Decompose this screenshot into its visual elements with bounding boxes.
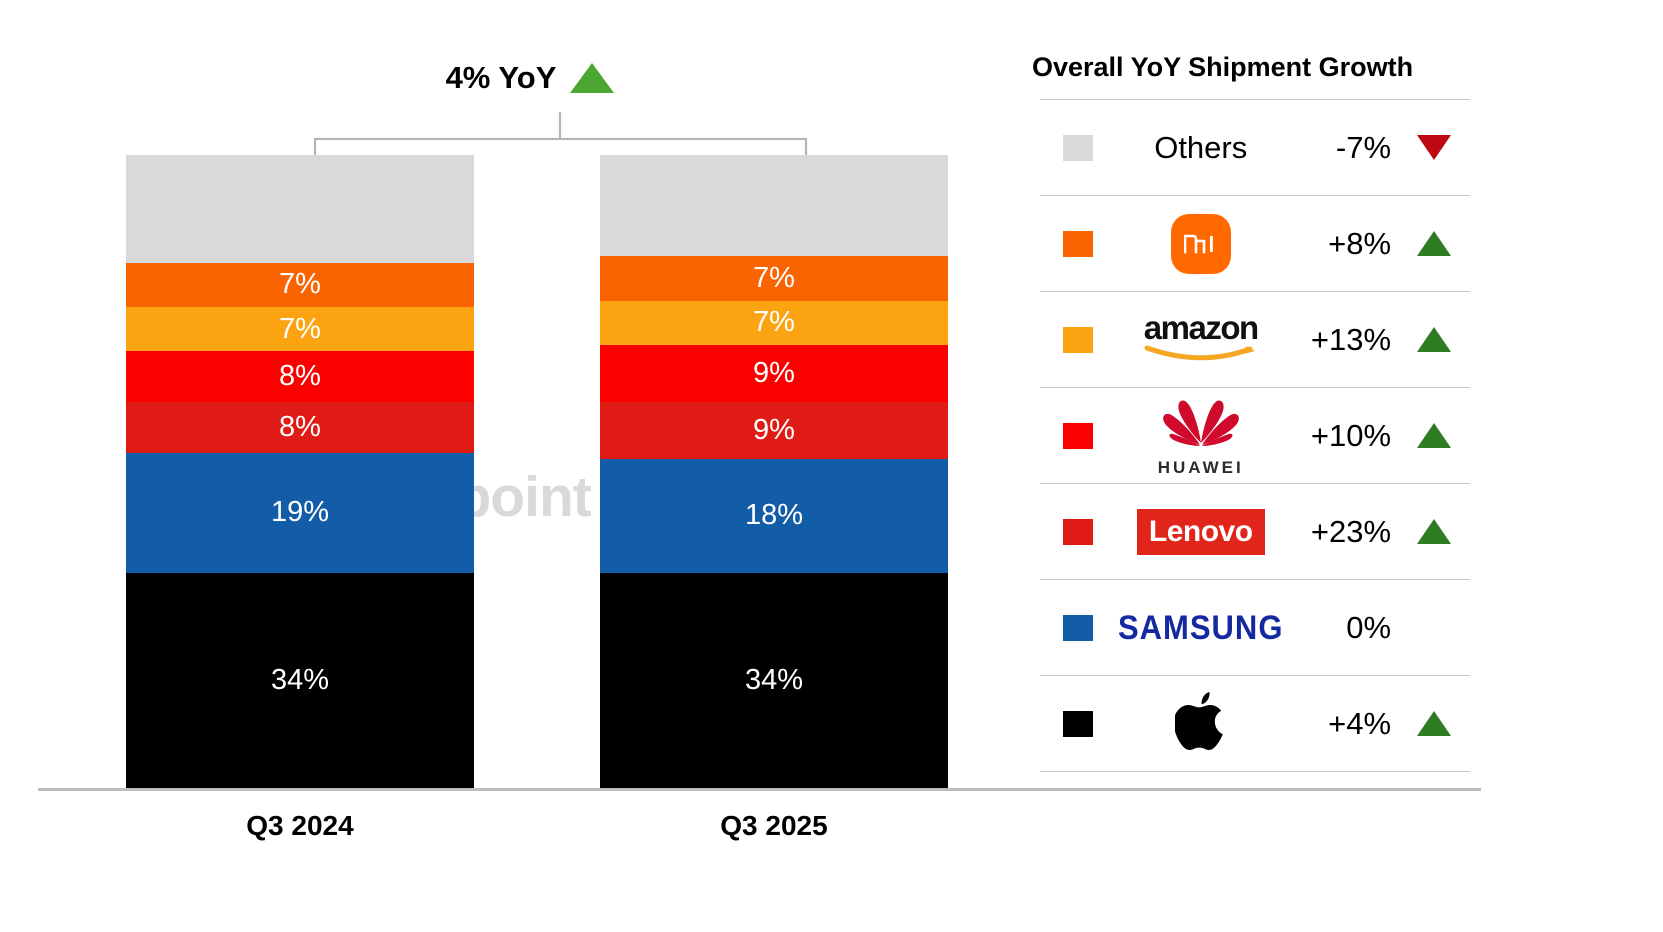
bar-segment-xiaomi: 7% [600,256,948,300]
legend-color-swatch [1063,231,1093,257]
legend-trend-arrow-cell [1397,327,1470,352]
bar-segment-apple: 34% [600,573,948,788]
bar-segment-samsung: 19% [126,453,474,573]
lenovo-logo-icon: Lenovo [1117,484,1285,580]
bar-segment-label: 9% [753,357,795,390]
legend-color-swatch [1063,423,1093,449]
bar-q3-2024: 7%7%8%8%19%34% [126,155,474,788]
legend-row-amazon[interactable]: amazon+13% [1040,292,1470,388]
legend-swatch-cell [1040,711,1117,737]
legend-table: Others-7%+8%amazon+13%HUAWEI+10%Lenovo+2… [1040,99,1470,772]
huawei-text: HUAWEI [1158,458,1244,478]
xiaomi-mi-glyph [1184,233,1218,255]
lenovo-wordmark: Lenovo [1137,509,1265,555]
triangle-up-icon [1417,423,1451,448]
bar-segment-lenovo: 9% [600,402,948,459]
triangle-up-icon [1417,519,1451,544]
stacked-bar-chart: 4% YoY 7%7%8%8%19%34% 7%7%9%9%18%34% Q3 … [0,0,1010,932]
legend-swatch-cell [1040,519,1117,545]
huawei-wordmark: HUAWEI [1156,393,1246,478]
bar-segment-others [600,155,948,256]
legend-trend-arrow-cell [1397,135,1470,160]
bar-segment-others [126,155,474,263]
legend-color-swatch [1063,519,1093,545]
bar-segment-huawei: 9% [600,345,948,402]
legend-color-swatch [1063,135,1093,161]
legend-growth-value: +13% [1285,322,1398,358]
legend-growth-value: 0% [1285,610,1398,646]
huawei-flower-icon [1156,393,1246,456]
legend-swatch-cell [1040,135,1117,161]
bar-segment-label: 7% [279,268,321,301]
amazon-wordmark: amazon [1142,311,1260,368]
apple-logo-icon [1117,676,1285,772]
amazon-smile-icon [1142,345,1260,368]
triangle-up-icon [1417,231,1451,256]
bar-segment-amazon: 7% [126,307,474,351]
axis-baseline [38,788,1481,791]
bar-q3-2025: 7%7%9%9%18%34% [600,155,948,788]
amazon-text: amazon [1144,311,1258,344]
legend-swatch-cell [1040,615,1117,641]
legend-row-huawei[interactable]: HUAWEI+10% [1040,388,1470,484]
bar-segment-label: 8% [279,360,321,393]
apple-mark [1175,690,1227,757]
legend-title: Overall YoY Shipment Growth [1032,52,1640,83]
bar-segment-label: 7% [279,313,321,346]
triangle-down-icon [1417,135,1451,160]
bar-segment-label: 34% [271,664,329,697]
legend-row-others[interactable]: Others-7% [1040,100,1470,196]
triangle-up-icon [1417,711,1451,736]
bar-segment-huawei: 8% [126,351,474,402]
samsung-text: SAMSUNG [1118,607,1283,647]
others-label: Others [1117,100,1285,196]
legend-trend-arrow-cell [1397,423,1470,448]
legend-trend-arrow-cell [1397,519,1470,544]
legend-trend-arrow-cell [1397,711,1470,736]
lenovo-text: Lenovo [1149,515,1253,549]
bar-segment-apple: 34% [126,573,474,788]
legend-color-swatch [1063,711,1093,737]
legend-row-lenovo[interactable]: Lenovo+23% [1040,484,1470,580]
legend-row-samsung[interactable]: SAMSUNG0% [1040,580,1470,676]
legend-color-swatch [1063,615,1093,641]
bar-segment-label: 19% [271,496,329,529]
category-label-0: Q3 2024 [126,810,474,842]
legend-swatch-cell [1040,231,1117,257]
legend-growth-value: +23% [1285,514,1398,550]
bar-segment-label: 7% [753,262,795,295]
bar-segment-label: 7% [753,306,795,339]
bar-segment-amazon: 7% [600,301,948,345]
legend-row-apple[interactable]: +4% [1040,676,1470,772]
legend-growth-value: -7% [1285,130,1398,166]
bar-segment-xiaomi: 7% [126,263,474,307]
bar-segment-label: 18% [745,499,803,532]
legend-swatch-cell [1040,423,1117,449]
category-label-1: Q3 2025 [600,810,948,842]
legend-growth-value: +10% [1285,418,1398,454]
amazon-logo-icon: amazon [1117,292,1285,388]
legend: Overall YoY Shipment Growth Others-7%+8%… [1040,52,1640,772]
bar-segment-samsung: 18% [600,459,948,573]
bar-segment-lenovo: 8% [126,402,474,453]
samsung-logo-icon: SAMSUNG [1117,580,1285,676]
others-text: Others [1154,130,1247,166]
legend-row-xiaomi[interactable]: +8% [1040,196,1470,292]
xiaomi-logo-icon [1117,196,1285,292]
bar-segment-label: 8% [279,411,321,444]
bar-segment-label: 34% [745,664,803,697]
legend-trend-arrow-cell [1397,231,1470,256]
bar-segment-label: 9% [753,414,795,447]
legend-swatch-cell [1040,327,1117,353]
bars-container: 7%7%8%8%19%34% 7%7%9%9%18%34% [0,0,1010,932]
xiaomi-logo-tile [1171,214,1231,274]
legend-color-swatch [1063,327,1093,353]
legend-growth-value: +8% [1285,226,1398,262]
huawei-logo-icon: HUAWEI [1117,388,1285,484]
chart-page: Counterpoint 4% YoY 7%7%8%8%19%34% 7%7%9… [0,0,1663,932]
triangle-up-icon [1417,327,1451,352]
legend-growth-value: +4% [1285,706,1398,742]
